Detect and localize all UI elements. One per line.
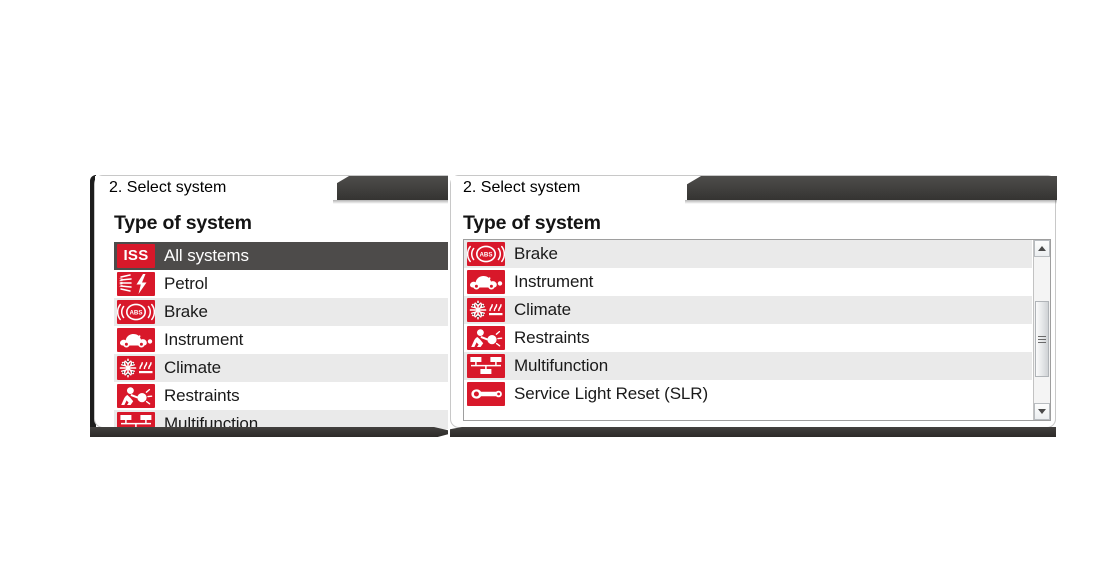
left-panel-body: 2. Select system Type of system ISSAll s… — [94, 175, 448, 428]
list-item-label: Multifunction — [164, 414, 258, 429]
list-item-label: Instrument — [514, 272, 593, 292]
list-item[interactable]: Multifunction — [114, 410, 448, 429]
abs-brake-icon: ABS — [117, 300, 155, 324]
service-light-reset-icon — [467, 382, 505, 406]
list-item[interactable]: ABSBrake — [464, 240, 1032, 268]
svg-text:MIN: MIN — [119, 278, 124, 287]
list-item-label: Brake — [164, 302, 208, 322]
list-item[interactable]: ISSAll systems — [114, 242, 448, 270]
airbag-restraints-icon — [467, 326, 505, 350]
list-item[interactable]: Multifunction — [464, 352, 1032, 380]
scrollbar-track-upper[interactable] — [1034, 257, 1050, 301]
list-item[interactable]: MINPetrol — [114, 270, 448, 298]
scrollbar-track-lower[interactable] — [1034, 377, 1050, 403]
scroll-down-button[interactable] — [1034, 403, 1050, 420]
left-screenshot-panel: 2. Select system Type of system ISSAll s… — [90, 175, 448, 437]
list-item-label: Climate — [514, 300, 571, 320]
left-tabbar: 2. Select system — [95, 176, 448, 200]
climate-control-icon — [117, 356, 155, 380]
scroll-up-button[interactable] — [1034, 240, 1050, 257]
list-item[interactable]: Service Light Reset (SLR) — [464, 380, 1032, 408]
list-item[interactable]: Instrument — [464, 268, 1032, 296]
right-tab-slab-shadow — [685, 200, 1057, 204]
abs-brake-icon: ABS — [467, 242, 505, 266]
left-panel-bottom-bar — [90, 427, 448, 437]
list-item[interactable]: Climate — [464, 296, 1032, 324]
iss-all-systems-icon: ISS — [117, 244, 155, 268]
list-item[interactable]: Restraints — [114, 382, 448, 410]
right-screenshot-panel: 2. Select system Type of system ABSBrake… — [450, 175, 1058, 437]
left-system-list[interactable]: ISSAll systemsMINPetrolABSBrakeInstrumen… — [114, 242, 448, 429]
right-page-title: Type of system — [463, 212, 601, 235]
right-tabbar: 2. Select system — [451, 176, 1055, 200]
instrument-cluster-icon — [467, 270, 505, 294]
svg-text:ABS: ABS — [129, 310, 142, 317]
list-item-label: Petrol — [164, 274, 208, 294]
multifunction-icon — [117, 412, 155, 429]
climate-control-icon — [467, 298, 505, 322]
svg-text:ABS: ABS — [479, 252, 492, 259]
left-tab-select-system[interactable]: 2. Select system — [95, 176, 337, 200]
list-item-label: Restraints — [514, 328, 590, 348]
airbag-restraints-icon — [117, 384, 155, 408]
list-item[interactable]: Climate — [114, 354, 448, 382]
scrollbar-thumb-grip-icon — [1038, 334, 1046, 345]
right-panel-body: 2. Select system Type of system ABSBrake… — [450, 175, 1056, 428]
scroll-up-arrow-icon — [1038, 246, 1046, 251]
list-item-label: Restraints — [164, 386, 240, 406]
list-item-label: Service Light Reset (SLR) — [514, 384, 708, 404]
right-list-scrollbar[interactable] — [1033, 240, 1050, 420]
left-tab-slab-shadow — [333, 200, 448, 204]
list-item-label: All systems — [164, 246, 249, 266]
right-panel-bottom-bar — [450, 427, 1056, 437]
right-tab-label: 2. Select system — [463, 179, 580, 197]
list-item[interactable]: ABSBrake — [114, 298, 448, 326]
scroll-down-arrow-icon — [1038, 409, 1046, 414]
left-page-title: Type of system — [114, 212, 252, 235]
instrument-cluster-icon — [117, 328, 155, 352]
list-item-label: Multifunction — [514, 356, 608, 376]
petrol-engine-icon: MIN — [117, 272, 155, 296]
multifunction-icon — [467, 354, 505, 378]
list-item-label: Brake — [514, 244, 558, 264]
right-tab-select-system[interactable]: 2. Select system — [451, 176, 687, 200]
list-item-label: Instrument — [164, 330, 243, 350]
scrollbar-thumb[interactable] — [1035, 301, 1049, 377]
list-item-label: Climate — [164, 358, 221, 378]
list-item[interactable]: Instrument — [114, 326, 448, 354]
left-tab-label: 2. Select system — [109, 179, 226, 197]
right-tab-inactive-slab[interactable] — [675, 176, 1057, 200]
right-system-list[interactable]: ABSBrakeInstrumentClimateRestraintsMulti… — [463, 239, 1051, 421]
list-item[interactable]: Restraints — [464, 324, 1032, 352]
left-tab-inactive-slab[interactable] — [323, 176, 448, 200]
